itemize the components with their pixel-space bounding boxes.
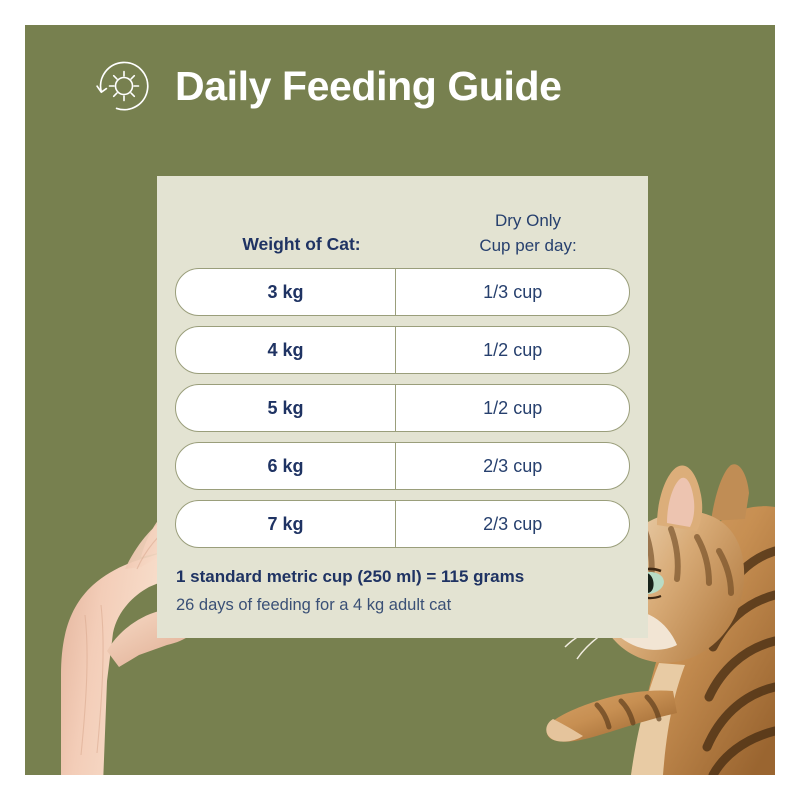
cell-weight: 6 kg bbox=[176, 443, 395, 489]
footnotes: 1 standard metric cup (250 ml) = 115 gra… bbox=[176, 565, 636, 618]
table-row: 5 kg 1/2 cup bbox=[175, 384, 630, 432]
table-row: 7 kg 2/3 cup bbox=[175, 500, 630, 548]
column-header-amount-line2: Cup per day: bbox=[428, 234, 628, 259]
cell-amount: 2/3 cup bbox=[396, 443, 629, 489]
table-row: 4 kg 1/2 cup bbox=[175, 326, 630, 374]
column-header-amount: Dry Only Cup per day: bbox=[428, 209, 628, 258]
poster-panel: Daily Feeding Guide bbox=[25, 25, 775, 775]
column-header-amount-line1: Dry Only bbox=[428, 209, 628, 234]
cell-weight: 3 kg bbox=[176, 269, 395, 315]
footnote-cup-conversion: 1 standard metric cup (250 ml) = 115 gra… bbox=[176, 565, 636, 590]
table-header: Weight of Cat: Dry Only Cup per day: bbox=[157, 196, 648, 266]
feeding-table-rows: 3 kg 1/3 cup 4 kg 1/2 cup 5 kg 1/2 cup 6… bbox=[175, 268, 630, 548]
sun-cycle-icon bbox=[95, 57, 153, 115]
page-title: Daily Feeding Guide bbox=[175, 66, 562, 107]
column-header-weight: Weight of Cat: bbox=[175, 234, 428, 255]
cell-amount: 1/2 cup bbox=[396, 327, 629, 373]
cell-amount: 2/3 cup bbox=[396, 501, 629, 547]
table-row: 3 kg 1/3 cup bbox=[175, 268, 630, 316]
header: Daily Feeding Guide bbox=[95, 57, 562, 115]
cell-weight: 7 kg bbox=[176, 501, 395, 547]
feeding-guide-card: Weight of Cat: Dry Only Cup per day: 3 k… bbox=[157, 176, 648, 638]
footnote-days-of-feeding: 26 days of feeding for a 4 kg adult cat bbox=[176, 594, 636, 618]
table-row: 6 kg 2/3 cup bbox=[175, 442, 630, 490]
cell-weight: 5 kg bbox=[176, 385, 395, 431]
cell-weight: 4 kg bbox=[176, 327, 395, 373]
cell-amount: 1/2 cup bbox=[396, 385, 629, 431]
cell-amount: 1/3 cup bbox=[396, 269, 629, 315]
